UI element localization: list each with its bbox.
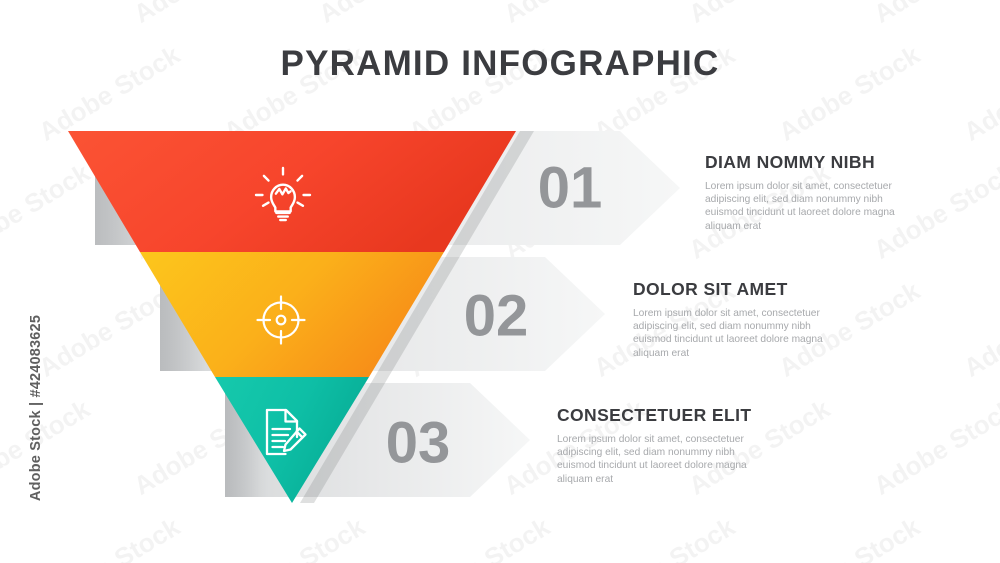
level-body-1: Lorem ipsum dolor sit amet, consectetuer… [705, 180, 913, 233]
level-number-2: 02 [464, 284, 529, 349]
level-heading-1: DIAM NOMMY NIBH [705, 152, 913, 173]
level-heading-3: CONSECTETUER ELIT [557, 405, 765, 426]
level-text-block-1: DIAM NOMMY NIBH Lorem ipsum dolor sit am… [705, 152, 913, 233]
level-heading-2: DOLOR SIT AMET [633, 279, 841, 300]
pyramid-diagram: 01 02 03 [0, 0, 1000, 563]
watermark-left-vertical: Adobe Stock | #424083625 [28, 278, 44, 538]
level-number-3: 03 [386, 411, 451, 476]
level-body-2: Lorem ipsum dolor sit amet, consectetuer… [633, 307, 841, 360]
pyramid-level-1 [68, 131, 516, 252]
level-number-1: 01 [538, 156, 603, 221]
level-text-block-3: CONSECTETUER ELIT Lorem ipsum dolor sit … [557, 405, 765, 486]
level-body-3: Lorem ipsum dolor sit amet, consectetuer… [557, 433, 765, 486]
infographic-canvas: Adobe StockAdobe StockAdobe StockAdobe S… [0, 0, 1000, 563]
level-text-block-2: DOLOR SIT AMET Lorem ipsum dolor sit ame… [633, 279, 841, 360]
